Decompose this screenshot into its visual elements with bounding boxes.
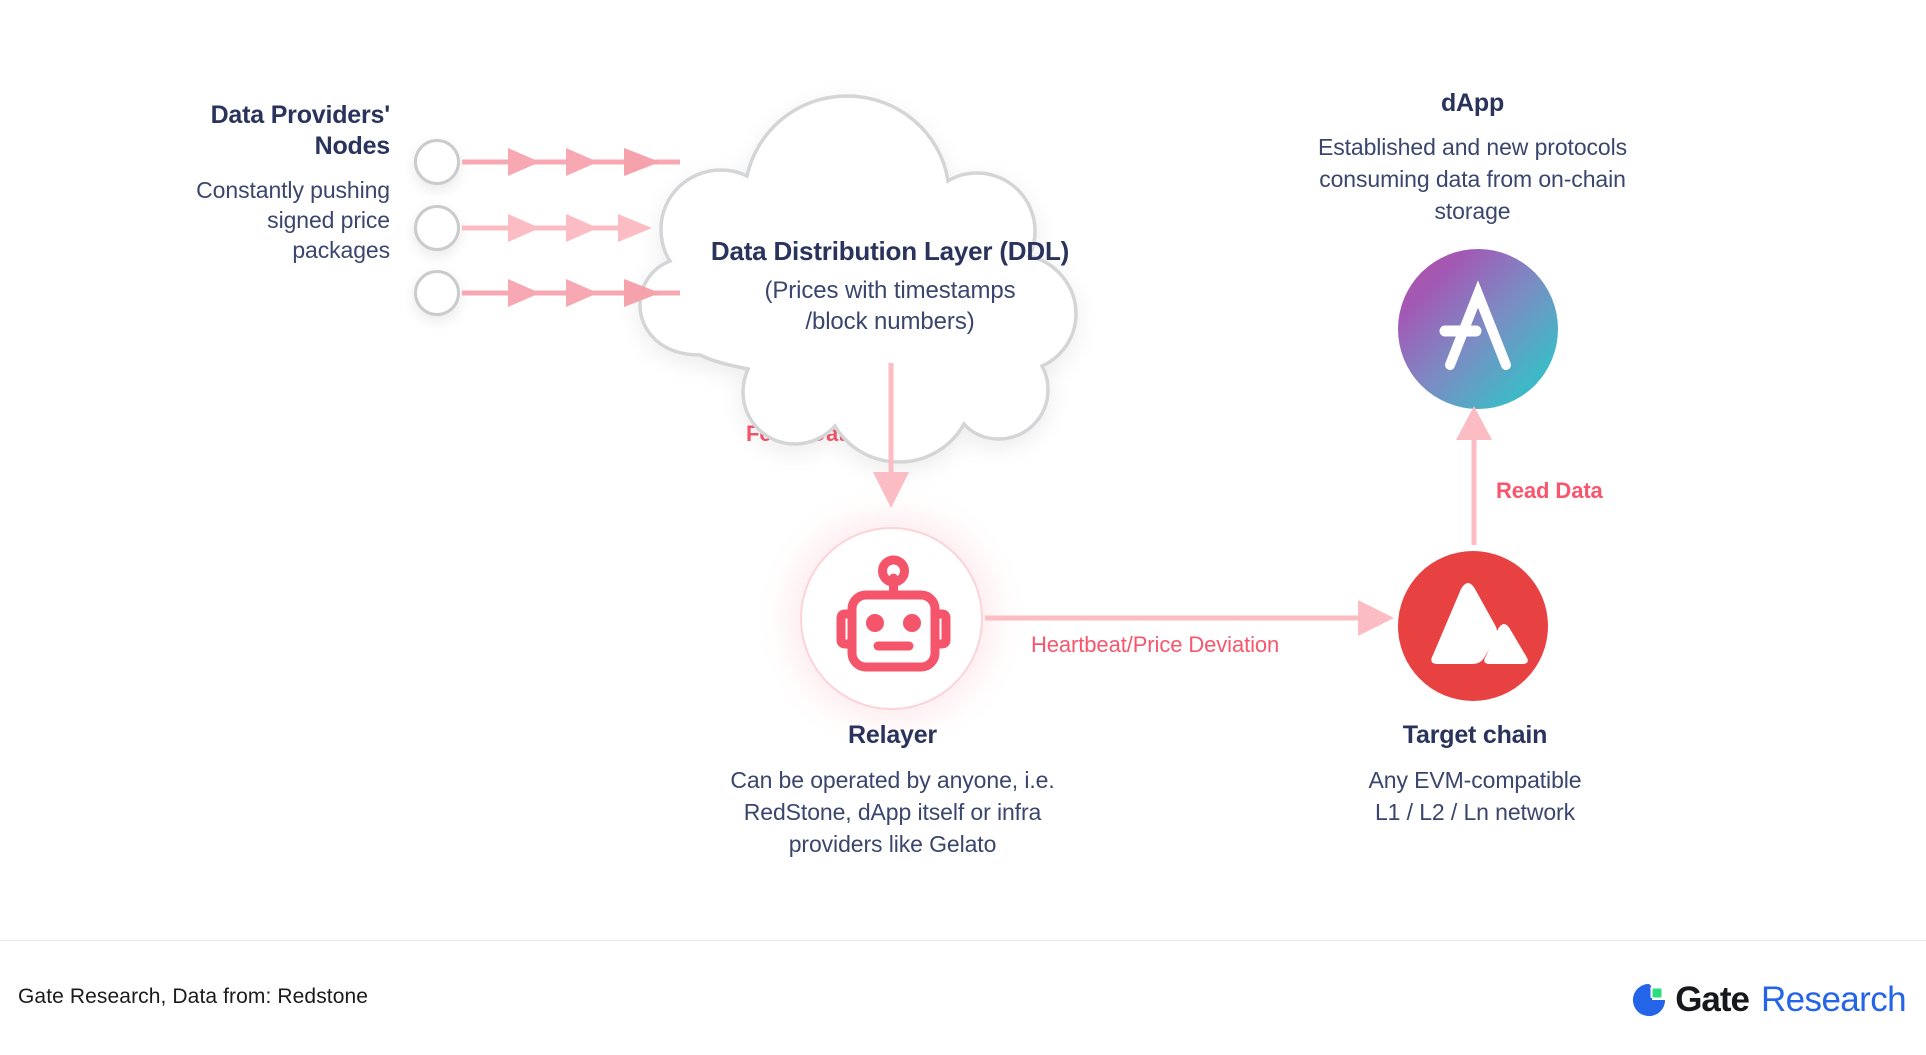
ddl-cloud-group: Data Distribution Layer (DDL) (Prices wi…	[630, 60, 1150, 380]
footer-source-note: Gate Research, Data from: Redstone	[18, 985, 368, 1009]
ddl-title: Data Distribution Layer (DDL)	[630, 235, 1150, 267]
target-chain-description-line-2: L1 / L2 / Ln network	[1310, 796, 1640, 828]
provider-node-circle	[414, 205, 460, 251]
footer-divider	[0, 940, 1926, 941]
arrow-heartbeat	[985, 600, 1394, 636]
relayer-description: Can be operated by anyone, i.e. RedStone…	[705, 764, 1080, 860]
relayer-label-group: Relayer Can be operated by anyone, i.e. …	[705, 719, 1080, 860]
target-chain-description-line-1: Any EVM-compatible	[1310, 764, 1640, 796]
gate-research-brand: Gate Research	[1629, 979, 1906, 1021]
data-providers-description: Constantly pushing signed price packages	[190, 175, 390, 265]
target-chain-label-group: Target chain Any EVM-compatible L1 / L2 …	[1310, 719, 1640, 828]
brand-name-gate: Gate	[1675, 980, 1749, 1020]
provider-node-circle	[414, 270, 460, 316]
arrow-fetch-data	[873, 363, 909, 508]
provider-arrow-row-2	[462, 214, 652, 242]
dapp-description: Established and new protocols consuming …	[1300, 131, 1645, 227]
diagram-canvas: Data Providers' Nodes Constantly pushing…	[0, 0, 1926, 1055]
brand-name-research: Research	[1761, 980, 1906, 1020]
provider-node-circle	[414, 139, 460, 185]
gate-logo-icon	[1629, 980, 1669, 1020]
avalanche-logo-icon	[1398, 551, 1548, 701]
ddl-subtitle-line-1: (Prices with timestamps	[630, 275, 1150, 306]
relayer-badge	[800, 527, 983, 710]
target-chain-title: Target chain	[1310, 719, 1640, 751]
relayer-title: Relayer	[705, 719, 1080, 751]
ddl-subtitle-line-2: /block numbers)	[630, 306, 1150, 337]
data-providers-title: Data Providers' Nodes	[190, 100, 390, 162]
data-providers-label-group: Data Providers' Nodes Constantly pushing…	[190, 100, 390, 265]
dapp-title: dApp	[1300, 88, 1645, 119]
fetch-data-label: Fetch Data	[746, 421, 857, 447]
aave-logo-icon	[1398, 249, 1558, 409]
robot-icon	[802, 529, 985, 712]
dapp-label-group: dApp Established and new protocols consu…	[1300, 88, 1645, 227]
heartbeat-price-deviation-label: Heartbeat/Price Deviation	[1031, 632, 1279, 658]
arrow-read-data	[1456, 406, 1492, 545]
read-data-label: Read Data	[1496, 478, 1603, 504]
ddl-text-group: Data Distribution Layer (DDL) (Prices wi…	[630, 235, 1150, 337]
